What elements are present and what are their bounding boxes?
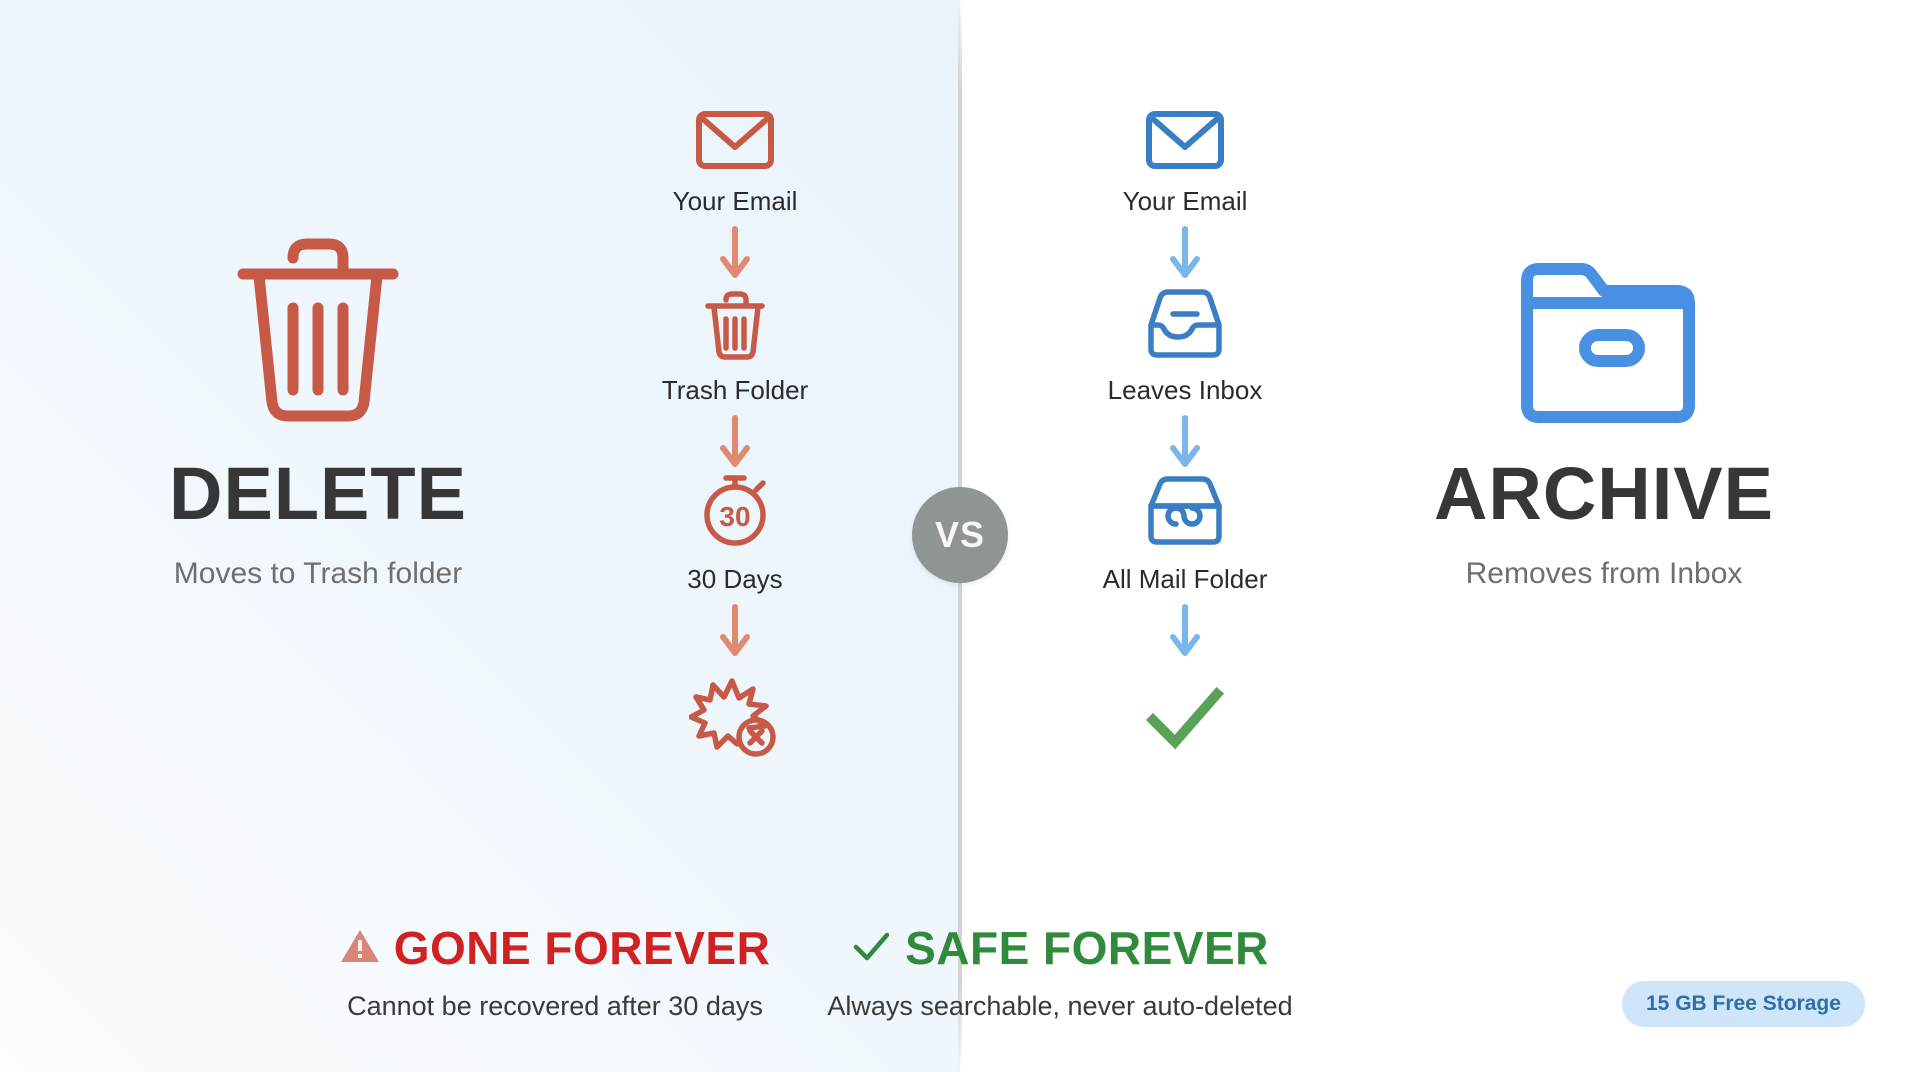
warning-triangle-icon	[340, 925, 380, 971]
vs-label: VS	[935, 514, 985, 556]
burst-x-icon	[689, 677, 781, 757]
archive-verdict-detail: Always searchable, never auto-deleted	[680, 991, 1440, 1022]
flow-arrow-down-icon	[1168, 412, 1202, 474]
flow-step-all-mail: All Mail Folder	[1103, 474, 1268, 595]
archive-flow: Your Email Leaves Inbox	[1035, 96, 1335, 757]
green-check-icon	[1143, 677, 1227, 757]
svg-text:30: 30	[719, 501, 750, 532]
archive-hero: ARCHIVE Removes from Inbox	[1374, 225, 1834, 591]
delete-flow: Your Email Trash Folder	[585, 96, 885, 757]
trash-can-icon	[88, 225, 548, 435]
flow-arrow-down-icon	[1168, 601, 1202, 663]
flow-label: Trash Folder	[662, 375, 808, 406]
archive-title: ARCHIVE	[1374, 457, 1834, 531]
flow-arrow-down-icon	[718, 601, 752, 663]
flow-step-email: Your Email	[673, 96, 798, 217]
flow-label: All Mail Folder	[1103, 564, 1268, 595]
flow-arrow-down-icon	[718, 223, 752, 285]
inbox-tray-icon	[1143, 285, 1227, 361]
infographic-canvas: DELETE Moves to Trash folder ARCHIVE Rem…	[0, 0, 1920, 1072]
delete-title: DELETE	[88, 457, 548, 531]
flow-label: Leaves Inbox	[1108, 375, 1263, 406]
infinity-box-icon	[1143, 474, 1227, 550]
archive-verdict-headline: SAFE FOREVER	[680, 925, 1440, 971]
trash-can-icon	[701, 285, 769, 361]
archive-subtitle: Removes from Inbox	[1374, 557, 1834, 591]
folder-archive-icon	[1374, 225, 1834, 435]
flow-label: Your Email	[673, 186, 798, 217]
check-icon	[851, 925, 891, 971]
envelope-icon	[1145, 96, 1225, 172]
flow-arrow-down-icon	[1168, 223, 1202, 285]
flow-step-leaves-inbox: Leaves Inbox	[1108, 285, 1263, 406]
archive-verdict-text: SAFE FOREVER	[905, 925, 1269, 971]
flow-arrow-down-icon	[718, 412, 752, 474]
archive-verdict: SAFE FOREVER Always searchable, never au…	[680, 925, 1440, 1022]
flow-label: 30 Days	[687, 564, 782, 595]
envelope-icon	[695, 96, 775, 172]
delete-subtitle: Moves to Trash folder	[88, 557, 548, 591]
flow-step-trash: Trash Folder	[662, 285, 808, 406]
flow-step-email: Your Email	[1123, 96, 1248, 217]
flow-step-countdown: 30 30 Days	[687, 474, 782, 595]
delete-hero: DELETE Moves to Trash folder	[88, 225, 548, 591]
flow-label: Your Email	[1123, 186, 1248, 217]
storage-badge: 15 GB Free Storage	[1622, 981, 1865, 1027]
stopwatch-30-icon: 30	[695, 474, 775, 550]
vs-badge: VS	[912, 487, 1008, 583]
